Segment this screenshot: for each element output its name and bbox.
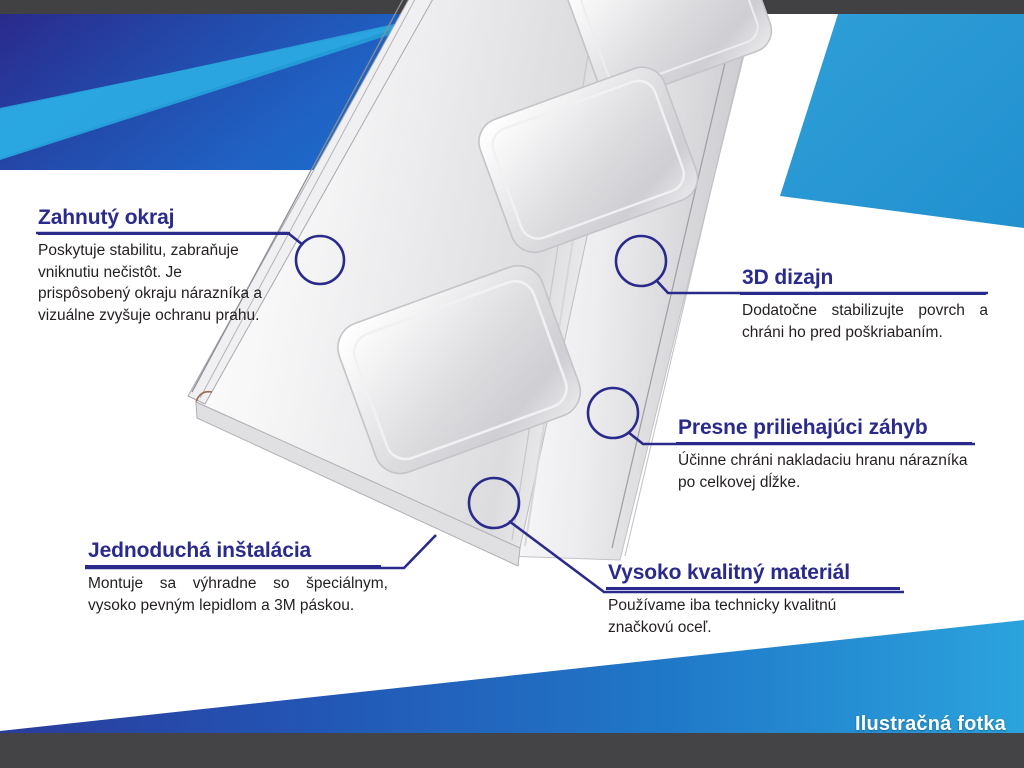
marker-circle-zahnuty-okraj (296, 236, 344, 284)
callout-jednoducha-instalacia: Jednoduchá inštalácia Montuje sa výhradn… (88, 538, 388, 616)
callout-rule-instalacia (85, 565, 381, 568)
watermark-label: Ilustračná fotka (855, 713, 1006, 736)
callout-zahnuty-okraj: Zahnutý okraj Poskytuje stabilitu, zabra… (38, 205, 274, 326)
infographic-canvas: Zahnutý okraj Poskytuje stabilitu, zabra… (0, 0, 1024, 768)
callout-connectors (0, 0, 1024, 768)
marker-circle-zahyb (588, 388, 638, 438)
callout-body-instalacia: Montuje sa výhradne so špeciálnym, vysok… (88, 573, 388, 616)
callout-rule-material (606, 587, 900, 590)
bottom-divider-bar (0, 733, 1024, 768)
callout-body-material: Používame iba technicky kvalitnú značkov… (608, 595, 906, 638)
callout-title-instalacia: Jednoduchá inštalácia (88, 538, 388, 563)
callout-3d-dizajn: 3D dizajn Dodatočne stabilizujte povrch … (742, 265, 988, 343)
callout-presne-priliehajuci-zahyb: Presne priliehajúci záhyb Účinne chráni … (678, 415, 978, 493)
callout-title-material: Vysoko kvalitný materiál (608, 560, 906, 585)
callout-body-zahnuty-okraj: Poskytuje stabilitu, zabraňuje vniknutiu… (38, 240, 274, 326)
callout-rule-zahnuty-okraj (38, 232, 290, 235)
callout-body-zahyb: Účinne chráni nakladaciu hranu nárazníka… (678, 450, 978, 493)
callout-body-3d-dizajn: Dodatočne stabilizujte povrch a chráni h… (742, 300, 988, 343)
callout-rule-3d-dizajn (740, 292, 986, 295)
callout-title-zahyb: Presne priliehajúci záhyb (678, 415, 978, 440)
marker-circle-3d-dizajn (616, 236, 666, 286)
callout-title-3d-dizajn: 3D dizajn (742, 265, 988, 290)
callout-rule-zahyb (676, 442, 972, 445)
marker-circle-material (469, 478, 519, 528)
callout-title-zahnuty-okraj: Zahnutý okraj (38, 205, 274, 230)
callout-vysoko-kvalitny-material: Vysoko kvalitný materiál Používame iba t… (608, 560, 906, 638)
